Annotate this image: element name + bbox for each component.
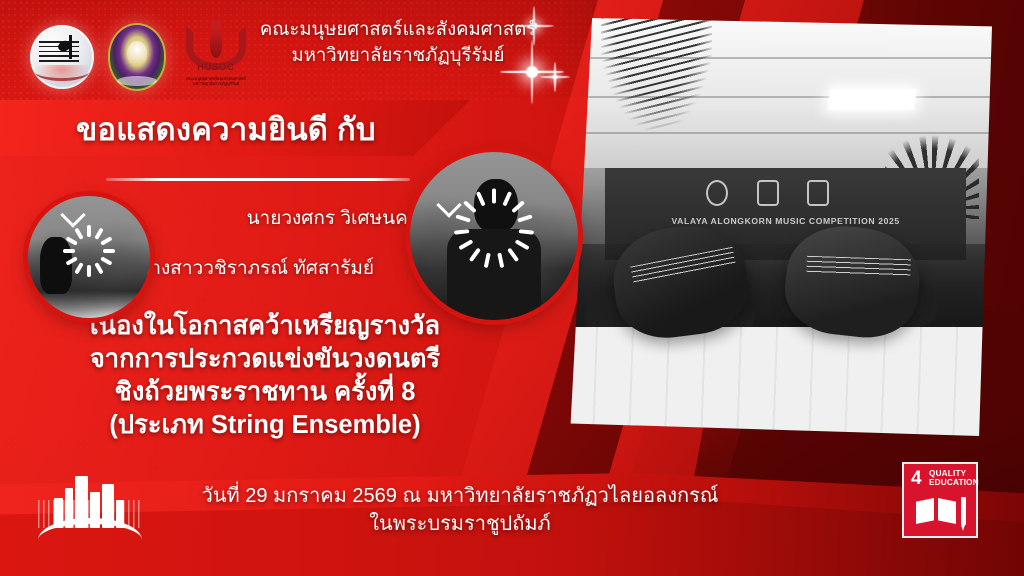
photo-banner-text: VALAYA ALONGKORN MUSIC COMPETITION 2025 bbox=[605, 216, 966, 226]
university-seal-logo-icon bbox=[108, 23, 166, 91]
faculty-name-line2: มหาวิทยาลัยราชภัฏบุรีรัมย์ bbox=[248, 42, 548, 68]
sdg-label-line1: QUALITY bbox=[929, 469, 979, 478]
sdg-label: QUALITY EDUCATION bbox=[929, 469, 979, 488]
photo-floor bbox=[562, 327, 992, 436]
logo-row: HUSOC คณะมนุษยศาสตร์และสังคมศาสตร์ มหาวิ… bbox=[30, 22, 252, 92]
sdg-label-line2: EDUCATION bbox=[929, 478, 979, 487]
open-book-icon bbox=[916, 498, 956, 524]
husoc-logo-word: HUSOC bbox=[197, 62, 235, 72]
achievement-line-4: (ประเภท String Ensemble) bbox=[0, 409, 530, 442]
event-details: วันที่ 29 มกราคม 2569 ณ มหาวิทยาลัยราชภั… bbox=[110, 482, 810, 538]
circular-photo-violinist bbox=[410, 152, 578, 320]
sdg-number: 4 bbox=[911, 469, 922, 488]
congratulations-banner: HUSOC คณะมนุษยศาสตร์และสังคมศาสตร์ มหาวิ… bbox=[0, 0, 1024, 576]
music-notation-logo-icon bbox=[30, 25, 94, 89]
main-group-photo: VALAYA ALONGKORN MUSIC COMPETITION 2025 bbox=[562, 18, 992, 436]
city-skyline-icon bbox=[38, 468, 142, 546]
sdg-4-badge: 4 QUALITY EDUCATION bbox=[902, 462, 978, 538]
faculty-name-line1: คณะมนุษยศาสตร์และสังคมศาสตร์ bbox=[248, 16, 548, 42]
radial-tick-marks-2 bbox=[410, 152, 578, 320]
photo-hanging-plant bbox=[601, 18, 713, 168]
event-date-venue: วันที่ 29 มกราคม 2569 ณ มหาวิทยาลัยราชภั… bbox=[110, 482, 810, 510]
husoc-logo-icon: HUSOC คณะมนุษยศาสตร์และสังคมศาสตร์ มหาวิ… bbox=[180, 22, 252, 92]
faculty-header: คณะมนุษยศาสตร์และสังคมศาสตร์ มหาวิทยาลัย… bbox=[248, 16, 548, 68]
radial-tick-marks bbox=[28, 196, 150, 318]
title-divider bbox=[106, 178, 410, 181]
event-patronage: ในพระบรมราชูปถัมภ์ bbox=[110, 510, 810, 538]
circular-photo-orchestra bbox=[28, 196, 150, 318]
achievement-line-3: ชิงถ้วยพระราชทาน ครั้งที่ 8 bbox=[0, 376, 530, 409]
achievement-text: เนื่องในโอกาสคว้าเหรียญรางวัล จากการประก… bbox=[0, 310, 530, 442]
achievement-line-2: จากการประกวดแข่งขันวงดนตรี bbox=[0, 343, 530, 376]
pencil-icon bbox=[961, 497, 966, 525]
page-title: ขอแสดงความยินดี กับ bbox=[76, 104, 376, 154]
photo-ceiling-light bbox=[827, 89, 916, 110]
husoc-logo-subtitle: คณะมนุษยศาสตร์และสังคมศาสตร์ มหาวิทยาลัย… bbox=[182, 76, 250, 86]
